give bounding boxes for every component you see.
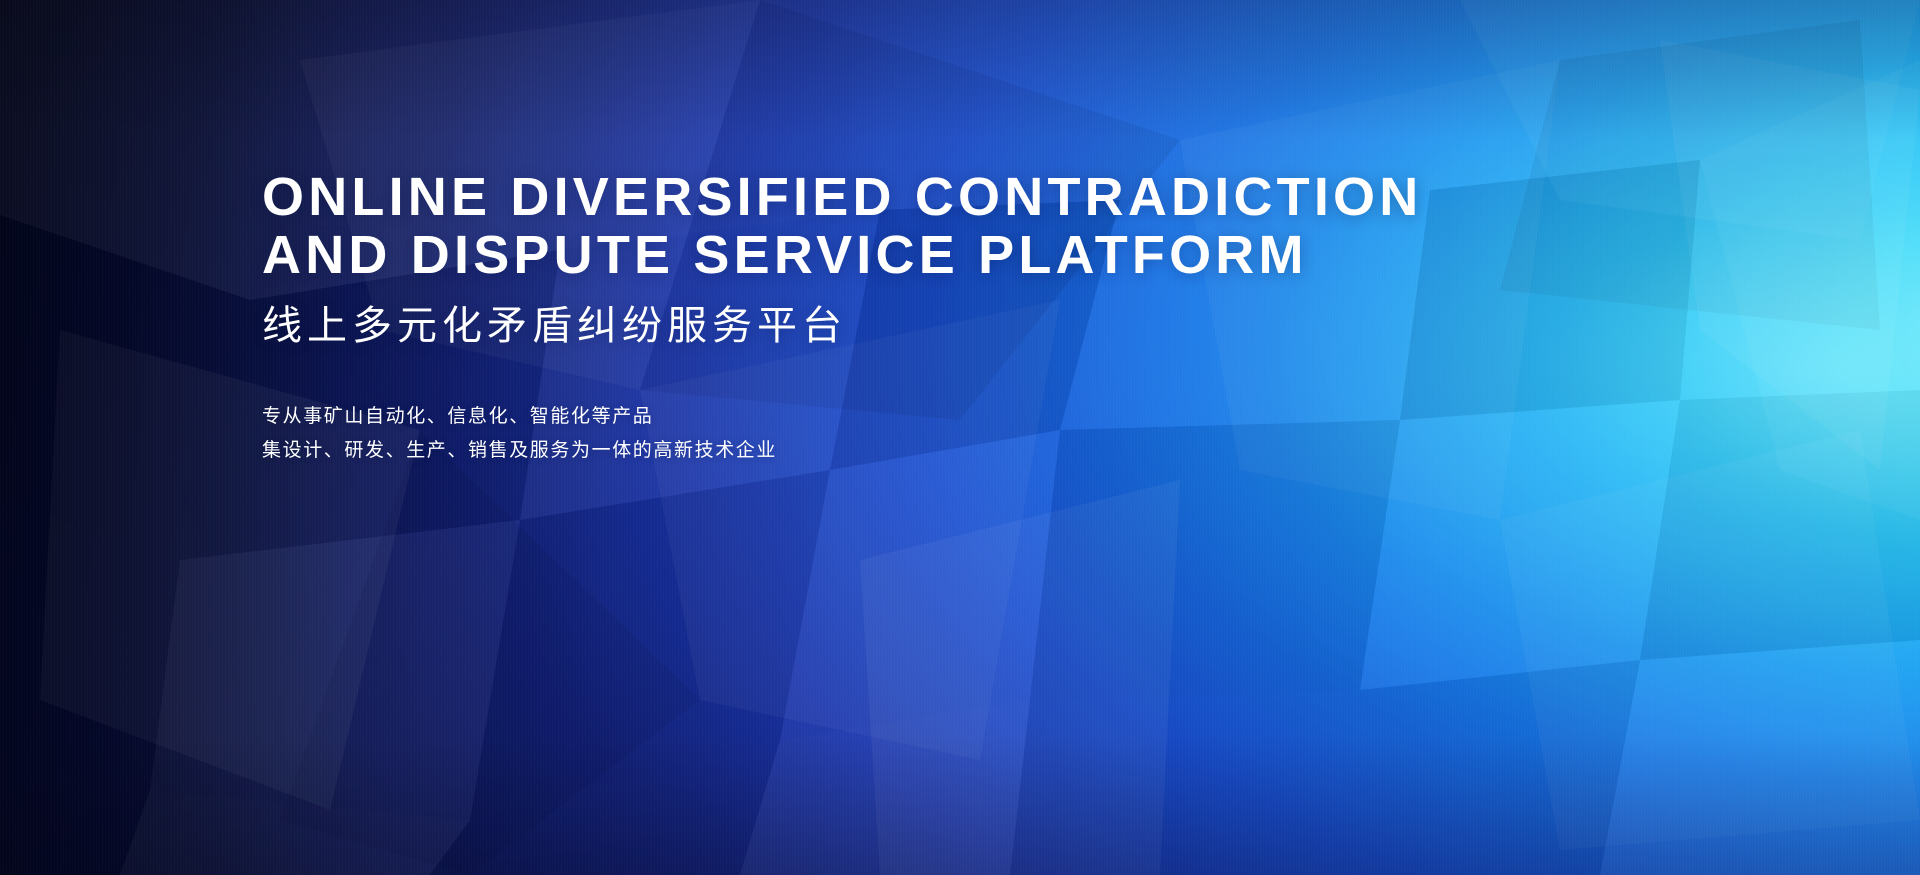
headline-line-2: AND DISPUTE SERVICE PLATFORM [262,226,1512,284]
page-title: ONLINE DIVERSIFIED CONTRADICTION AND DIS… [262,168,1512,284]
description-line-2: 集设计、研发、生产、销售及服务为一体的高新技术企业 [262,434,1512,468]
subtitle-chinese: 线上多元化矛盾纠纷服务平台 [262,300,1512,352]
headline-line-1: ONLINE DIVERSIFIED CONTRADICTION [262,168,1512,226]
description-text: 专从事矿山自动化、信息化、智能化等产品 集设计、研发、生产、销售及服务为一体的高… [262,400,1512,468]
hero-content: ONLINE DIVERSIFIED CONTRADICTION AND DIS… [262,168,1512,468]
description-line-1: 专从事矿山自动化、信息化、智能化等产品 [262,400,1512,434]
hero-banner: ONLINE DIVERSIFIED CONTRADICTION AND DIS… [0,0,1920,875]
